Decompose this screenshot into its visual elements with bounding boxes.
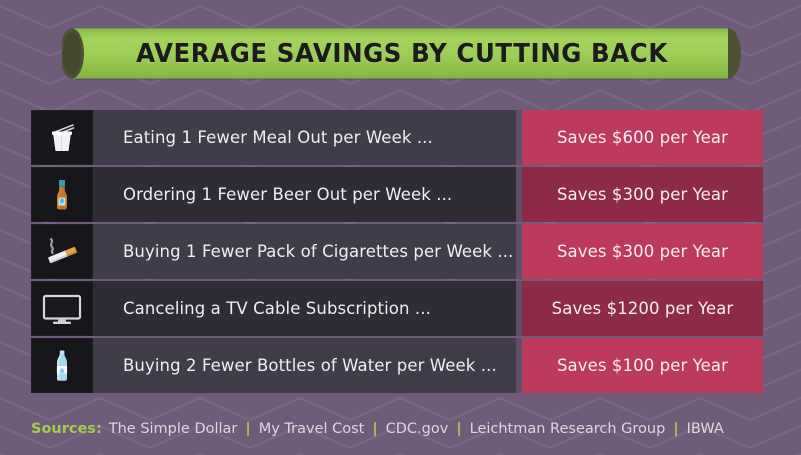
source-separator: | bbox=[372, 421, 377, 437]
sources-label: Sources: bbox=[31, 421, 102, 437]
page-title: AVERAGE SAVINGS BY CUTTING BACK bbox=[76, 27, 729, 80]
row-value: Saves $300 per Year bbox=[522, 224, 763, 279]
savings-table: Eating 1 Fewer Meal Out per Week ... Sav… bbox=[31, 110, 763, 393]
source-item-4: IBWA bbox=[687, 421, 724, 437]
water-bottle-icon bbox=[31, 338, 93, 393]
takeout-container-icon bbox=[31, 110, 93, 165]
row-value: Saves $100 per Year bbox=[522, 338, 763, 393]
table-row: Canceling a TV Cable Subscription ... Sa… bbox=[31, 281, 763, 336]
table-row: Ordering 1 Fewer Beer Out per Week ... S… bbox=[31, 167, 763, 222]
source-separator: | bbox=[673, 421, 678, 437]
television-icon bbox=[31, 281, 93, 336]
source-item-3: Leichtman Research Group bbox=[470, 421, 666, 437]
cigarette-icon bbox=[31, 224, 93, 279]
row-label: Eating 1 Fewer Meal Out per Week ... bbox=[93, 110, 516, 165]
sources-footer: Sources: The Simple Dollar | My Travel C… bbox=[31, 421, 725, 437]
row-label: Buying 2 Fewer Bottles of Water per Week… bbox=[93, 338, 516, 393]
row-value: Saves $1200 per Year bbox=[522, 281, 763, 336]
source-item-0: The Simple Dollar bbox=[109, 421, 238, 437]
table-row: Buying 1 Fewer Pack of Cigarettes per We… bbox=[31, 224, 763, 279]
table-row: Eating 1 Fewer Meal Out per Week ... Sav… bbox=[31, 110, 763, 165]
source-separator: | bbox=[456, 421, 461, 437]
source-separator: | bbox=[245, 421, 250, 437]
row-label: Canceling a TV Cable Subscription ... bbox=[93, 281, 516, 336]
row-value: Saves $300 per Year bbox=[522, 167, 763, 222]
title-banner: AVERAGE SAVINGS BY CUTTING BACK bbox=[62, 27, 742, 80]
table-row: Buying 2 Fewer Bottles of Water per Week… bbox=[31, 338, 763, 393]
row-label: Ordering 1 Fewer Beer Out per Week ... bbox=[93, 167, 516, 222]
row-label: Buying 1 Fewer Pack of Cigarettes per We… bbox=[93, 224, 516, 279]
source-item-2: CDC.gov bbox=[386, 421, 449, 437]
beer-bottle-icon bbox=[31, 167, 93, 222]
source-item-1: My Travel Cost bbox=[259, 421, 365, 437]
row-value: Saves $600 per Year bbox=[522, 110, 763, 165]
